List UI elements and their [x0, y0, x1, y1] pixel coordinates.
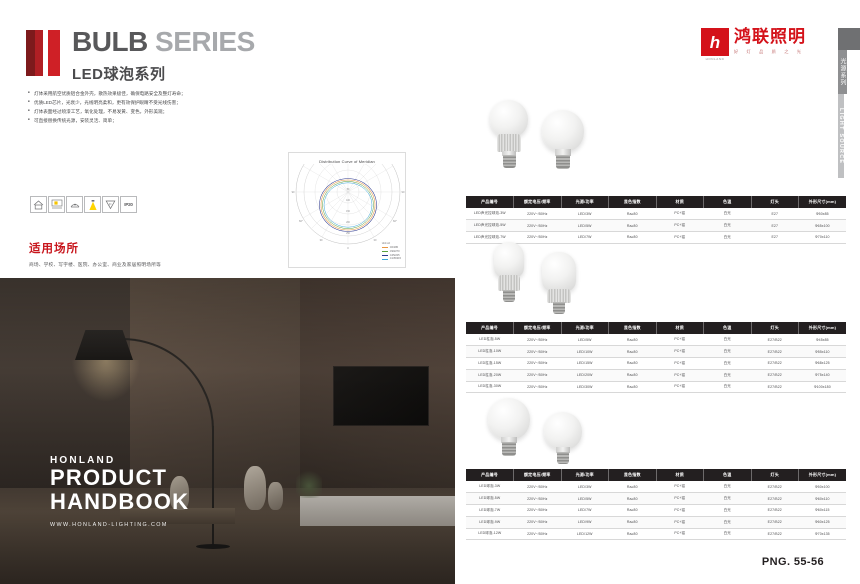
cell-voltage: 220V~/50Hz: [514, 220, 562, 232]
cell-power: LED/3W: [561, 481, 609, 492]
interior-photo: HONLAND PRODUCT HANDBOOK WWW.HONLAND-LIG…: [0, 278, 455, 584]
col-product-no: 产品编号: [466, 322, 514, 334]
cell-product-no: LED柱泡-15W: [466, 357, 514, 369]
svg-text:90: 90: [292, 190, 295, 194]
brand-mark-icon: h: [701, 28, 729, 56]
col-material: 材质: [656, 196, 704, 208]
cell-material: PC+铝: [656, 381, 704, 393]
cell-color-temp: 白光: [704, 381, 752, 393]
cell-product-no: LED柱泡-20W: [466, 369, 514, 381]
table-row: LED柱泡-10W220V~/50HzLED/10WRa≥80PC+铝白光E27…: [466, 346, 846, 358]
cell-voltage: 220V~/50Hz: [514, 346, 562, 358]
cell-base: E27/B22: [751, 504, 799, 516]
cell-material: PC+铝: [656, 504, 704, 516]
cell-power: LED/3W: [561, 208, 609, 219]
applicable-places-title: 适用场所: [29, 240, 161, 256]
brand-slogan: 好 灯 品 质 之 光: [734, 49, 806, 55]
cell-material: PC+铝: [656, 516, 704, 528]
table-row: LED柱泡-20W220V~/50HzLED/20WRa≥80PC+铝白光E27…: [466, 369, 846, 381]
cell-voltage: 220V~/50Hz: [514, 481, 562, 492]
feature-item: 可直接替换传统光源，安装灵活、简单；: [28, 117, 278, 126]
caption-product: PRODUCT: [50, 466, 189, 491]
cell-voltage: 220V~/50Hz: [514, 369, 562, 381]
cell-cri: Ra≥80: [609, 208, 657, 219]
cell-material: PC+铝: [656, 231, 704, 243]
feature-item: 灯体表面经过喷漆工艺，氧化处理，不易发黄、变色，外形美观；: [28, 108, 278, 117]
cell-dimensions: Φ70x110: [799, 231, 847, 243]
cell-color-temp: 白光: [704, 220, 752, 232]
cell-dimensions: Φ60x115: [799, 504, 847, 516]
col-voltage: 额定电压/频率: [514, 322, 562, 334]
brand-logo: h HONLAND 鸿联照明 好 灯 品 质 之 光: [701, 28, 806, 61]
cell-cri: Ra≥80: [609, 369, 657, 381]
cell-base: E27/B22: [751, 381, 799, 393]
col-product-no: 产品编号: [466, 196, 514, 208]
cell-base: E27/B22: [751, 481, 799, 492]
cell-power: LED/12W: [561, 528, 609, 540]
table-row: LED声光控球泡-3W220V~/50HzLED/3WRa≥80PC+铝白光E2…: [466, 208, 846, 219]
table-row: LED柱泡-5W220V~/50HzLED/5WRa≥80PC+铝白光E27/B…: [466, 334, 846, 345]
cell-power: LED/20W: [561, 369, 609, 381]
feature-item: 优质LED芯片，光衰少，光线明亮柔和，更有效保护眼睛不受光线伤害；: [28, 99, 278, 108]
cell-power: LED/15W: [561, 357, 609, 369]
cell-voltage: 220V~/50Hz: [514, 504, 562, 516]
cell-dimensions: Φ55x110: [799, 346, 847, 358]
col-lamp-base: 灯头: [751, 469, 799, 481]
col-source-power: 光源/功率: [561, 469, 609, 481]
col-cri: 显色指数: [609, 322, 657, 334]
series-title-light: SERIES: [148, 26, 255, 57]
cell-cri: Ra≥80: [609, 346, 657, 358]
cell-voltage: 220V~/50Hz: [514, 528, 562, 540]
cell-voltage: 220V~/50Hz: [514, 208, 562, 219]
cell-dimensions: Φ50x100: [799, 481, 847, 492]
cell-color-temp: 白光: [704, 493, 752, 505]
cell-product-no: LED柱泡-30W: [466, 381, 514, 393]
cell-dimensions: Φ60x125: [799, 516, 847, 528]
col-color-temp: 色温: [704, 196, 752, 208]
distribution-curve-chart: Distribution Curve of Meridian: [288, 152, 406, 268]
cell-dimensions: Φ100x180: [799, 381, 847, 393]
cell-base: E27/B22: [751, 516, 799, 528]
svg-text:90: 90: [402, 190, 405, 194]
col-voltage: 额定电压/频率: [514, 469, 562, 481]
col-source-power: 光源/功率: [561, 322, 609, 334]
feature-list: 灯体采用航空优质铝合金外壳，散热效果极佳，确保电路安全及整灯寿命； 优质LED芯…: [28, 90, 278, 126]
table-row: LED球泡-9W220V~/50HzLED/9WRa≥80PC+铝白光E27/B…: [466, 516, 846, 528]
cell-power: LED/9W: [561, 516, 609, 528]
col-cri: 显色指数: [609, 469, 657, 481]
cell-material: PC+铝: [656, 334, 704, 345]
svg-text:120°: 120°: [392, 164, 397, 165]
cell-power: LED/5W: [561, 493, 609, 505]
website-url: WWW.HONLAND-LIGHTING.COM: [50, 522, 189, 528]
cell-base: E27/B22: [751, 369, 799, 381]
cell-base: E27: [751, 220, 799, 232]
svg-text:250: 250: [346, 233, 351, 235]
cell-cri: Ra≥80: [609, 493, 657, 505]
svg-text:30: 30: [320, 238, 323, 242]
chart-legend: Unit:cd C0/180 C90/270 C45/225 C135/315: [382, 242, 401, 261]
red-accent-bars: [26, 30, 60, 76]
cell-material: PC+铝: [656, 357, 704, 369]
tab-cap: [838, 28, 860, 50]
cell-voltage: 220V~/50Hz: [514, 357, 562, 369]
applicable-places-text: 商场、学校、写字楼、医院、办公室、商业及家居照明场所等: [29, 262, 161, 268]
cell-color-temp: 白光: [704, 481, 752, 492]
caption-handbook: HANDBOOK: [50, 490, 189, 515]
spec-icon-row: F IP20: [30, 196, 137, 213]
table-row: LED球泡-12W220V~/50HzLED/12WRa≥80PC+铝白光E27…: [466, 528, 846, 540]
cell-voltage: 220V~/50Hz: [514, 334, 562, 345]
cell-dimensions: Φ50x85: [799, 208, 847, 219]
ip-rating-label: IP20: [124, 202, 132, 207]
cell-dimensions: Φ75x140: [799, 369, 847, 381]
table-header-row: 产品编号 额定电压/频率 光源/功率 显色指数 材质 色温 灯头 外形尺寸(mm…: [466, 196, 846, 208]
energy-label-icon: [48, 196, 65, 213]
cell-product-no: LED球泡-9W: [466, 516, 514, 528]
cell-cri: Ra≥80: [609, 220, 657, 232]
cell-cri: Ra≥80: [609, 504, 657, 516]
series-title-bold: BULB: [72, 26, 148, 57]
cell-color-temp: 白光: [704, 346, 752, 358]
table-row: LED柱泡-30W220V~/50HzLED/30WRa≥80PC+铝白光E27…: [466, 381, 846, 393]
cell-power: LED/7W: [561, 504, 609, 516]
svg-text:150: 150: [346, 211, 351, 213]
svg-text:30: 30: [374, 238, 377, 242]
col-dimensions: 外形尺寸(mm): [799, 469, 847, 481]
cell-base: E27: [751, 231, 799, 243]
cell-base: E27/B22: [751, 346, 799, 358]
svg-text:100: 100: [346, 200, 351, 202]
legend-entry: C135/315: [390, 257, 401, 261]
cell-color-temp: 白光: [704, 357, 752, 369]
cell-dimensions: Φ70x135: [799, 528, 847, 540]
cell-cri: Ra≥80: [609, 516, 657, 528]
cell-product-no: LED柱泡-10W: [466, 346, 514, 358]
f-mark-icon: F: [102, 196, 119, 213]
spec-table-sound-light-control: 产品编号 额定电压/频率 光源/功率 显色指数 材质 色温 灯头 外形尺寸(mm…: [466, 196, 846, 244]
svg-text:120°: 120°: [298, 164, 303, 165]
cell-voltage: 220V~/50Hz: [514, 381, 562, 393]
svg-text:60°: 60°: [299, 219, 303, 223]
brand-name: 鸿联照明: [734, 28, 806, 45]
applicable-places: 适用场所 商场、学校、写字楼、医院、办公室、商业及家居照明场所等: [29, 240, 161, 268]
page-number: PNG. 55-56: [762, 556, 824, 568]
cell-power: LED/5W: [561, 220, 609, 232]
cell-color-temp: 白光: [704, 231, 752, 243]
cell-power: LED/10W: [561, 346, 609, 358]
cell-material: PC+铝: [656, 481, 704, 492]
product-image-sound-light-bulb: [480, 96, 660, 188]
cell-power: LED/5W: [561, 334, 609, 345]
svg-text:0: 0: [347, 246, 349, 250]
cell-base: E27/B22: [751, 334, 799, 345]
indoor-icon: [30, 196, 47, 213]
col-material: 材质: [656, 322, 704, 334]
col-color-temp: 色温: [704, 322, 752, 334]
cell-color-temp: 白光: [704, 369, 752, 381]
brand-mark-subtext: HONLAND: [701, 57, 729, 61]
cell-color-temp: 白光: [704, 334, 752, 345]
cell-product-no: LED柱泡-5W: [466, 334, 514, 345]
tab-label-cn: 光源系列: [838, 50, 847, 94]
product-image-column-bulb: [480, 240, 660, 320]
table-row: LED球泡-5W220V~/50HzLED/5WRa≥80PC+铝白光E27/B…: [466, 493, 846, 505]
cell-power: LED/30W: [561, 381, 609, 393]
table-row: LED球泡-3W220V~/50HzLED/3WRa≥80PC+铝白光E27/B…: [466, 481, 846, 492]
cell-color-temp: 白光: [704, 528, 752, 540]
spec-table-ball-bulb: 产品编号 额定电压/频率 光源/功率 显色指数 材质 色温 灯头 外形尺寸(mm…: [466, 469, 846, 540]
svg-text:F: F: [109, 201, 112, 206]
light-beam-icon: [84, 196, 101, 213]
cell-base: E27/B22: [751, 357, 799, 369]
table-header-row: 产品编号 额定电压/频率 光源/功率 显色指数 材质 色温 灯头 外形尺寸(mm…: [466, 322, 846, 334]
cell-dimensions: Φ68x125: [799, 357, 847, 369]
col-dimensions: 外形尺寸(mm): [799, 196, 847, 208]
page-title: BULB SERIES LED球泡系列: [72, 27, 255, 84]
cell-dimensions: Φ45x85: [799, 334, 847, 345]
spec-table-column-bulb: 产品编号 额定电压/频率 光源/功率 显色指数 材质 色温 灯头 外形尺寸(mm…: [466, 322, 846, 393]
cell-voltage: 220V~/50Hz: [514, 516, 562, 528]
cell-base: E27/B22: [751, 493, 799, 505]
svg-text:200: 200: [346, 222, 351, 224]
series-subtitle: LED球泡系列: [72, 63, 255, 84]
cell-product-no: LED球泡-12W: [466, 528, 514, 540]
section-tab[interactable]: 光源系列 LIGHT SOURCE: [838, 28, 860, 178]
col-lamp-base: 灯头: [751, 322, 799, 334]
table-row: LED声光控球泡-5W220V~/50HzLED/5WRa≥80PC+铝白光E2…: [466, 220, 846, 232]
cell-color-temp: 白光: [704, 516, 752, 528]
cell-product-no: LED声光控球泡-3W: [466, 208, 514, 219]
cell-product-no: LED球泡-7W: [466, 504, 514, 516]
cell-material: PC+铝: [656, 208, 704, 219]
cell-material: PC+铝: [656, 346, 704, 358]
cell-material: PC+铝: [656, 493, 704, 505]
cell-base: E27/B22: [751, 528, 799, 540]
table-row: LED球泡-7W220V~/50HzLED/7WRa≥80PC+铝白光E27/B…: [466, 504, 846, 516]
cell-color-temp: 白光: [704, 208, 752, 219]
col-color-temp: 色温: [704, 469, 752, 481]
col-product-no: 产品编号: [466, 469, 514, 481]
cell-cri: Ra≥80: [609, 381, 657, 393]
cell-product-no: LED声光控球泡-5W: [466, 220, 514, 232]
cell-material: PC+铝: [656, 369, 704, 381]
col-source-power: 光源/功率: [561, 196, 609, 208]
col-cri: 显色指数: [609, 196, 657, 208]
cell-material: PC+铝: [656, 528, 704, 540]
photo-caption: HONLAND PRODUCT HANDBOOK WWW.HONLAND-LIG…: [50, 455, 189, 528]
cell-dimensions: Φ65x100: [799, 220, 847, 232]
tab-label-en: LIGHT SOURCE: [838, 94, 844, 178]
table-row: LED柱泡-15W220V~/50HzLED/15WRa≥80PC+铝白光E27…: [466, 357, 846, 369]
col-lamp-base: 灯头: [751, 196, 799, 208]
cell-product-no: LED球泡-3W: [466, 481, 514, 492]
col-dimensions: 外形尺寸(mm): [799, 322, 847, 334]
cell-product-no: LED球泡-5W: [466, 493, 514, 505]
feature-item: 灯体采用航空优质铝合金外壳，散热效果极佳，确保电路安全及整灯寿命；: [28, 90, 278, 99]
cell-dimensions: Φ60x110: [799, 493, 847, 505]
product-image-ball-bulb: [480, 396, 660, 474]
cell-cri: Ra≥80: [609, 528, 657, 540]
svg-text:60°: 60°: [393, 219, 397, 223]
brand-mark-letter: h: [710, 34, 720, 51]
cell-cri: Ra≥80: [609, 481, 657, 492]
ip-rating-icon: IP20: [120, 196, 137, 213]
cell-cri: Ra≥80: [609, 334, 657, 345]
cell-base: E27: [751, 208, 799, 219]
beam-angle-icon: [66, 196, 83, 213]
col-voltage: 额定电压/频率: [514, 196, 562, 208]
cell-cri: Ra≥80: [609, 357, 657, 369]
cell-voltage: 220V~/50Hz: [514, 493, 562, 505]
cell-material: PC+铝: [656, 220, 704, 232]
col-material: 材质: [656, 469, 704, 481]
cell-color-temp: 白光: [704, 504, 752, 516]
table-header-row: 产品编号 额定电压/频率 光源/功率 显色指数 材质 色温 灯头 外形尺寸(mm…: [466, 469, 846, 481]
